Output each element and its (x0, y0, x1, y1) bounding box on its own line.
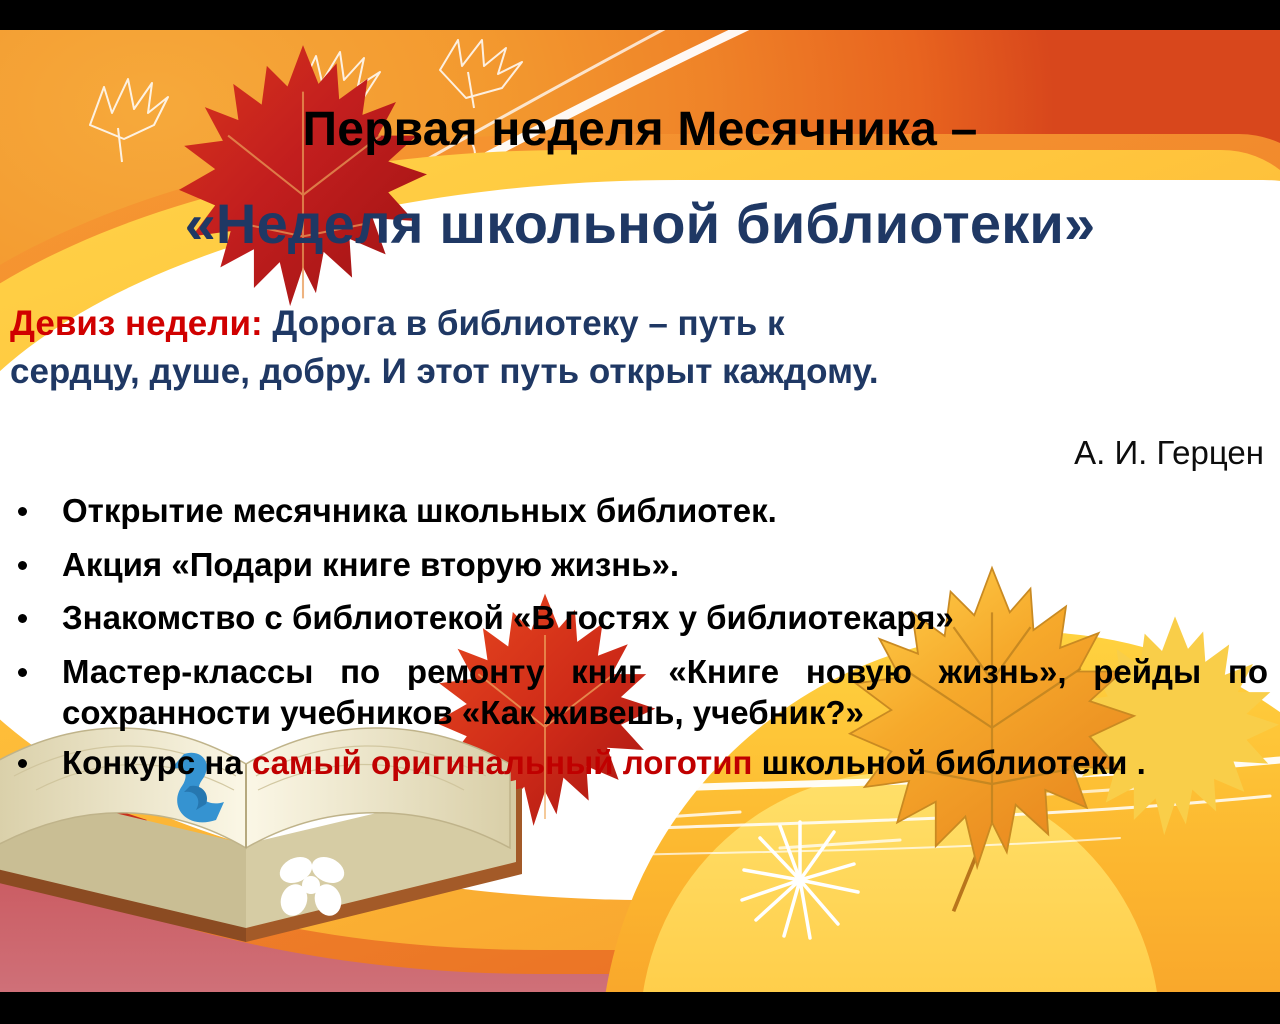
week-motto-text-part2: сердцу, душе, добру. И этот путь открыт … (10, 350, 1266, 394)
activities-list: Открытие месячника школьных библиотек. А… (0, 490, 1268, 795)
presentation-slide: Первая неделя Месячника – «Неделя школьн… (0, 0, 1280, 1024)
list-item-label: Мастер-классы по ремонту книг «Книге нов… (62, 653, 1268, 732)
week-motto: Девиз недели: Дорога в библиотеку – путь… (10, 302, 1266, 346)
list-item: Конкурс на самый оригинальный логотип шк… (0, 742, 1268, 784)
list-item-label: Открытие месячника школьных библиотек. (62, 492, 777, 529)
letterbox-bar-top (0, 0, 1280, 30)
page-title-line-1: Первая неделя Месячника – (0, 105, 1280, 155)
list-item: Мастер-классы по ремонту книг «Книге нов… (0, 651, 1268, 734)
slide-canvas: Первая неделя Месячника – «Неделя школьн… (0, 30, 1280, 992)
list-item-label-pre: Конкурс на (62, 744, 252, 781)
slide-text-layer: Первая неделя Месячника – «Неделя школьн… (0, 30, 1280, 992)
page-title-line-2: «Неделя школьной библиотеки» (0, 195, 1280, 254)
week-motto-text-part1: Дорога в библиотеку – путь к (263, 304, 785, 343)
motto-author: А. И. Герцен (1074, 434, 1264, 472)
list-item-label-post: школьной библиотеки . (752, 744, 1145, 781)
letterbox-bar-bottom (0, 992, 1280, 1024)
list-item: Знакомство с библиотекой «В гостях у биб… (0, 597, 1268, 639)
list-item-label: Акция «Подари книге вторую жизнь». (62, 546, 679, 583)
list-item-label-highlight: самый оригинальный логотип (252, 744, 753, 781)
list-item: Открытие месячника школьных библиотек. (0, 490, 1268, 532)
list-item-label: Знакомство с библиотекой «В гостях у биб… (62, 599, 954, 636)
list-item: Акция «Подари книге вторую жизнь». (0, 544, 1268, 586)
week-motto-label: Девиз недели: (10, 304, 263, 343)
